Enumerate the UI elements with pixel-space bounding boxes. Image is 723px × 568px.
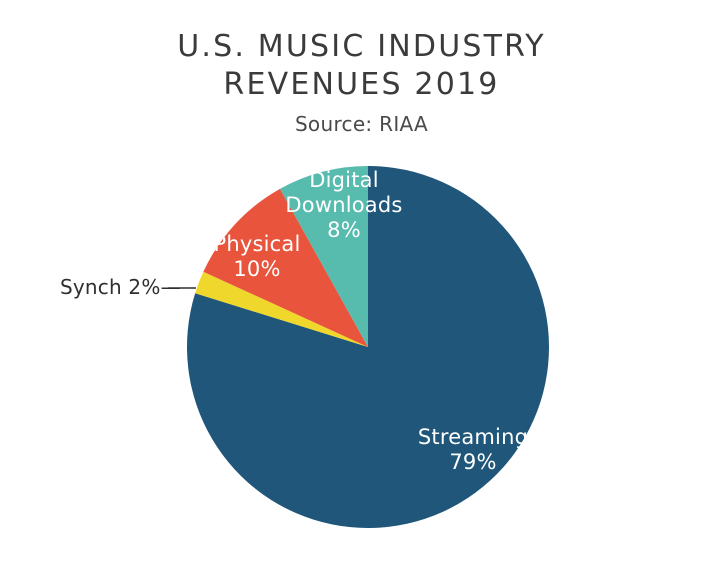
pie-chart-figure: U.S. MUSIC INDUSTRY REVENUES 2019 Source… [0, 0, 723, 568]
pie-label-synch: Synch 2%— [60, 274, 181, 300]
